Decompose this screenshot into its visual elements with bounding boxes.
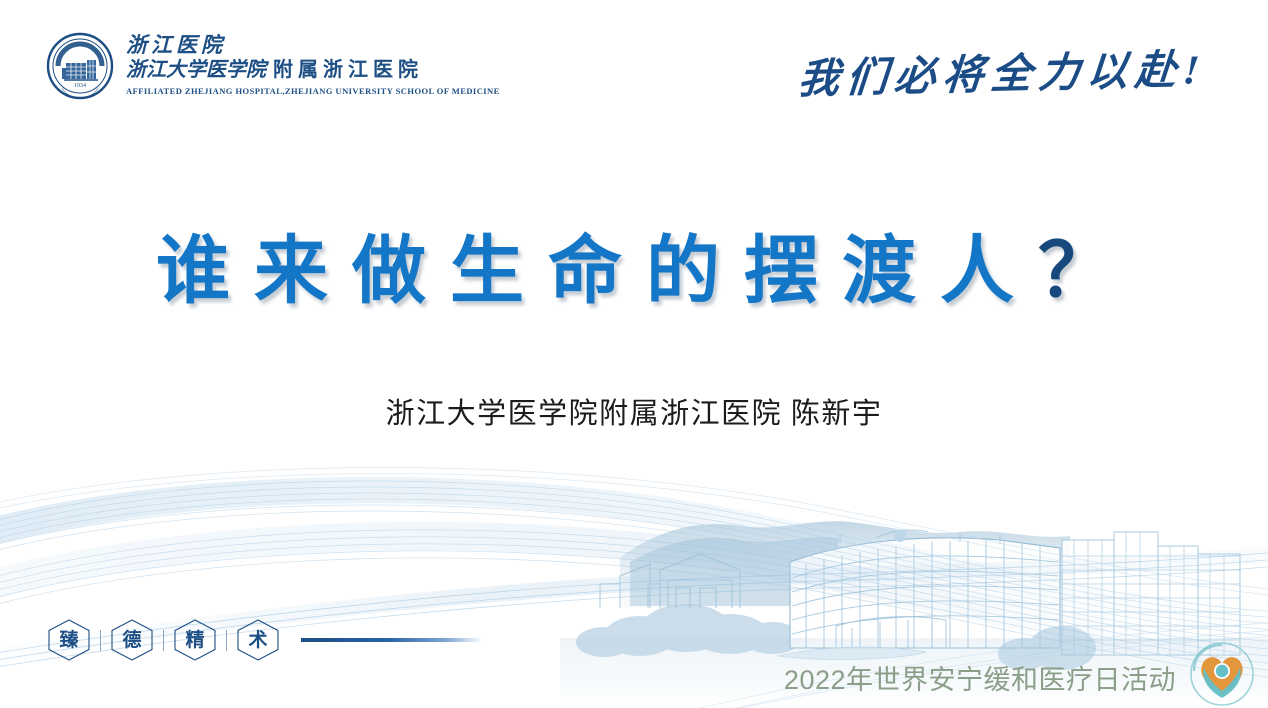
affiliation-hospital: 附属浙江医院	[273, 59, 423, 81]
motto-badge-4-label: 术	[248, 631, 267, 650]
hospital-affiliation-cn: 浙江大学医学院附属浙江医院	[126, 58, 500, 83]
title-text: 谁来做生命的摆渡人	[156, 231, 1038, 313]
zhejiang-hospital-circular-emblem: 1934	[46, 32, 114, 100]
title-question-mark: ？	[1038, 229, 1136, 312]
motto-divider-rule	[301, 638, 483, 642]
hospital-logo: 1934 浙江医院 浙江大学医学院附属浙江医院 AFFILIATED ZHEJI…	[46, 32, 500, 100]
palliative-care-heart-logo	[1184, 641, 1260, 708]
page-title: 谁来做生命的摆渡人？	[0, 232, 1268, 312]
presentation-slide: 1934 浙江医院 浙江大学医学院附属浙江医院 AFFILIATED ZHEJI…	[0, 0, 1268, 708]
motto-badge-2-label: 德	[122, 631, 141, 650]
motto-badges: 臻 德 精 术	[46, 618, 483, 662]
motto-separator-2	[163, 630, 164, 651]
motto-badge-3: 精	[172, 618, 218, 662]
affiliation-school: 浙江大学医学院	[126, 59, 266, 81]
presenter-line: 浙江大学医学院附属浙江医院 陈新宇	[0, 390, 1268, 432]
motto-badge-4: 术	[235, 618, 281, 662]
motto-separator-3	[226, 630, 227, 651]
emblem-year: 1934	[74, 83, 86, 89]
motto-badge-2: 德	[109, 618, 155, 662]
motto-separator-1	[100, 630, 101, 651]
slogan-calligraphy: 我们必将全力以赴!	[796, 35, 1209, 105]
event-title: 2022年世界安宁缓和医疗日活动	[784, 658, 1176, 697]
motto-badge-1-label: 臻	[59, 631, 78, 650]
hospital-name-en: AFFILIATED ZHEJIANG HOSPITAL,ZHEJIANG UN…	[126, 86, 500, 96]
hospital-name-cn: 浙江医院	[126, 34, 500, 56]
motto-badge-1: 臻	[46, 618, 92, 662]
motto-badge-3-label: 精	[185, 631, 204, 650]
